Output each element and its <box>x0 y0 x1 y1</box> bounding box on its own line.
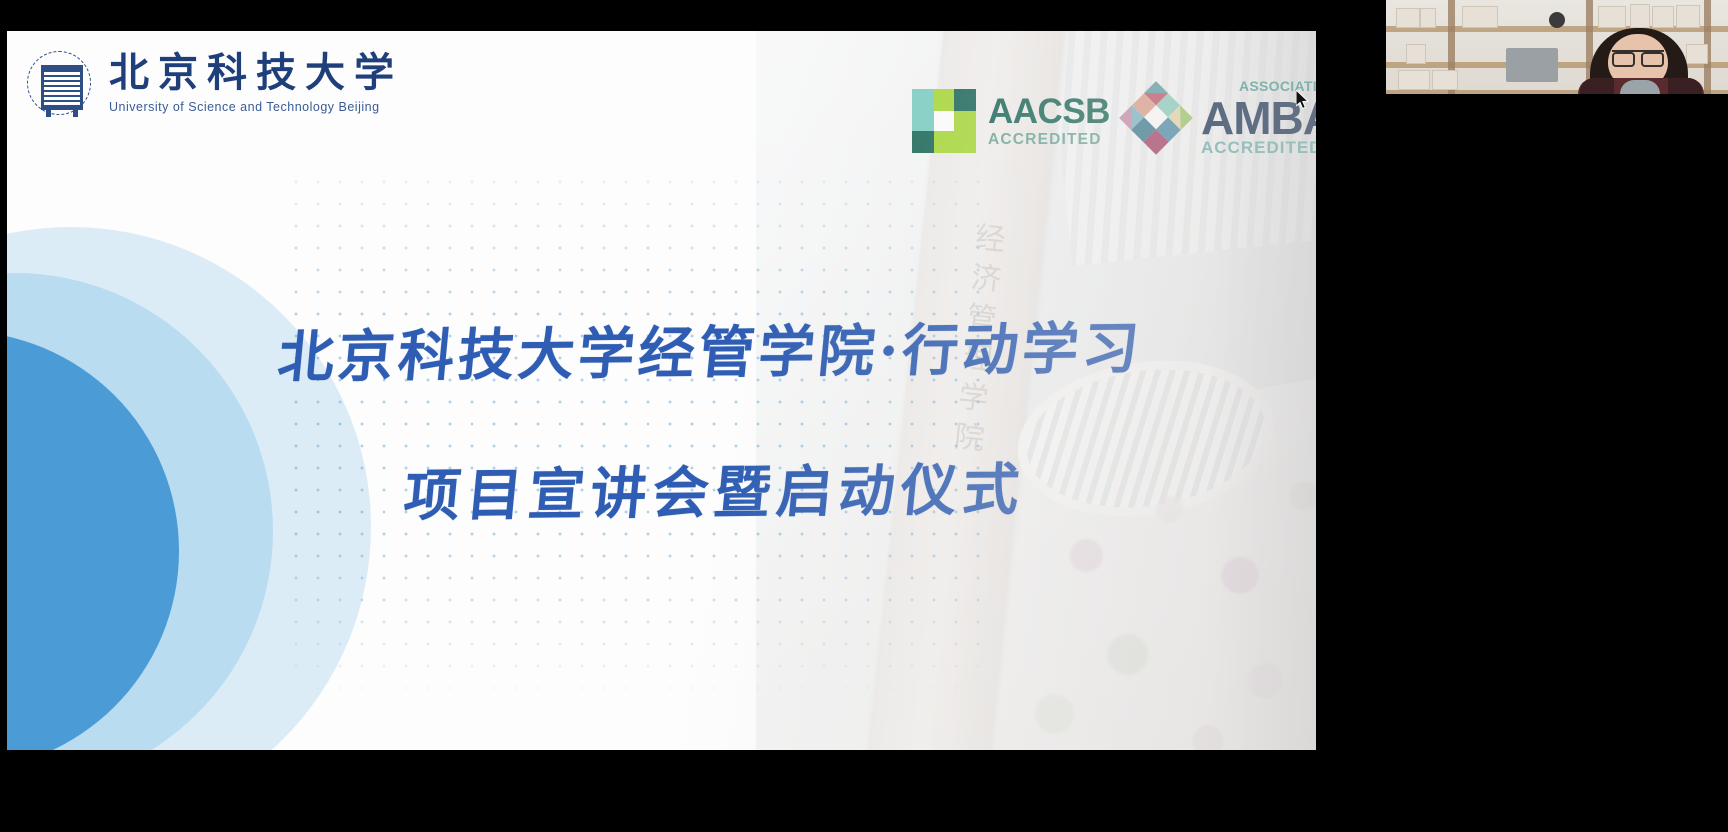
usth-gate-glyph <box>41 65 83 110</box>
presenter-avatar <box>1582 28 1700 94</box>
presentation-slide[interactable]: 经济管理学院 北京科技大学 University of Science and … <box>7 31 1316 750</box>
presenter-jacket-right <box>1668 78 1702 94</box>
presenter-jacket-left <box>1580 78 1614 94</box>
desk-monitor <box>1506 48 1558 82</box>
amba-gem-icon <box>1117 79 1195 157</box>
shelf-box <box>1406 44 1426 64</box>
shelf-box <box>1396 8 1420 28</box>
shelf-box <box>1398 70 1430 90</box>
aacsb-text: AACSB ACCREDITED <box>988 94 1110 148</box>
shelf-lamp-icon <box>1549 12 1565 28</box>
shelf-box <box>1652 6 1674 28</box>
aacsb-mark-icon <box>912 89 976 153</box>
university-name-cn: 北京科技大学 <box>109 53 403 93</box>
university-logo-text: 北京科技大学 University of Science and Technol… <box>109 53 403 114</box>
halftone-dot-pattern <box>285 171 985 691</box>
amba-name: AMBA <box>1201 95 1316 141</box>
aacsb-status: ACCREDITED <box>988 132 1110 148</box>
presenter-video-thumbnail[interactable] <box>1386 0 1728 94</box>
shelf-box <box>1630 4 1650 28</box>
aacsb-accreditation-logo: AACSB ACCREDITED <box>912 89 1110 153</box>
university-logo: 北京科技大学 University of Science and Technol… <box>27 51 403 115</box>
shelf-box <box>1462 6 1498 28</box>
aacsb-name: AACSB <box>988 94 1110 129</box>
amba-status: ACCREDITED <box>1201 139 1316 156</box>
usth-seal-icon <box>27 51 91 115</box>
amba-text: ASSOCIATION AMBA ACCREDITED <box>1201 81 1316 156</box>
slide-title-line-2: 项目宣讲会暨启动仪式 <box>401 445 1029 532</box>
shelf-box <box>1676 5 1700 28</box>
amba-accreditation-logo: ASSOCIATION AMBA ACCREDITED <box>1117 79 1316 157</box>
screen-share-window: 经济管理学院 北京科技大学 University of Science and … <box>0 0 1728 832</box>
glasses-icon <box>1612 50 1664 63</box>
shelf-box <box>1598 6 1626 28</box>
university-name-en: University of Science and Technology Bei… <box>109 100 403 114</box>
presenter-collar <box>1620 80 1660 94</box>
shelf-box <box>1420 8 1436 28</box>
shelf-box <box>1432 70 1458 90</box>
slide-title-line-1: 北京科技大学经管学院·行动学习 <box>275 303 1147 393</box>
amba-association-label: ASSOCIATION <box>1239 79 1316 93</box>
